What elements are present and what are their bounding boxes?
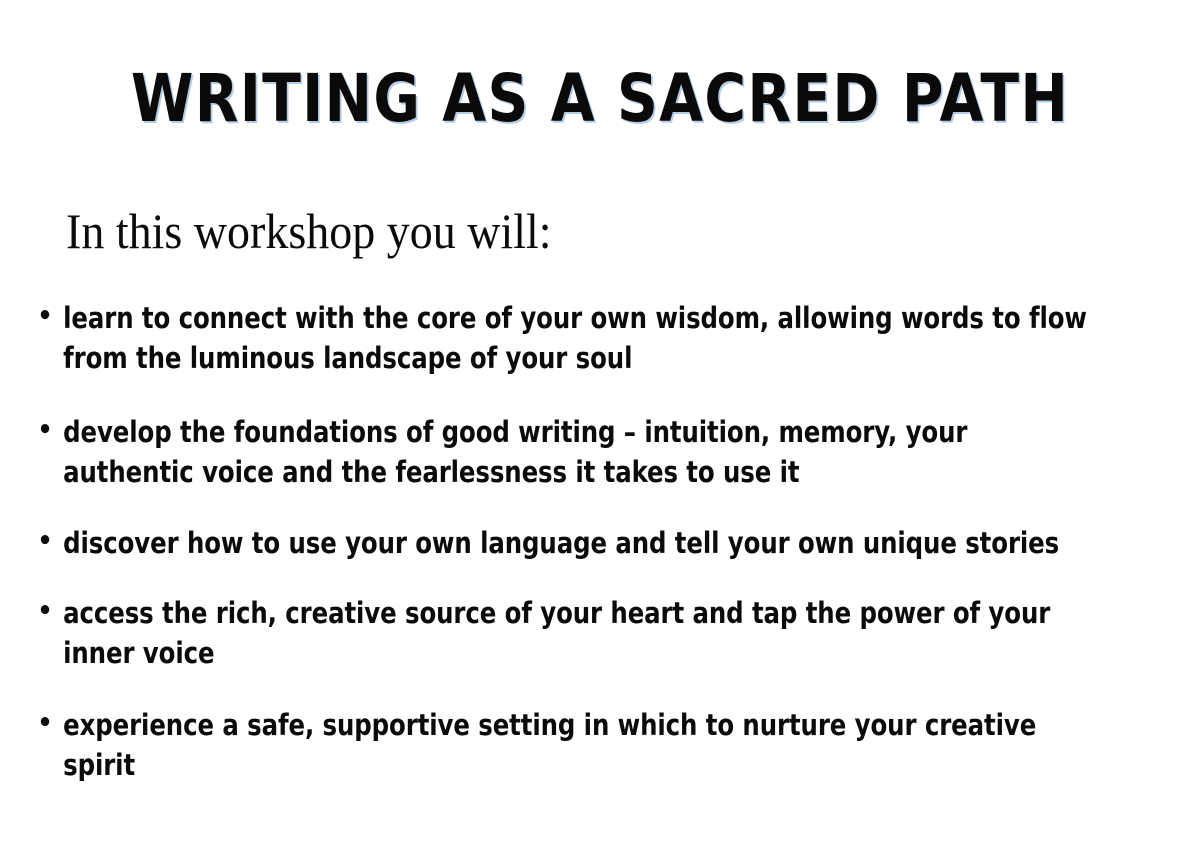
list-item: develop the foundations of good writing …	[30, 412, 1097, 492]
slide-subtitle: In this workshop you will:	[66, 205, 552, 258]
list-item: learn to connect with the core of your o…	[30, 298, 1097, 378]
workshop-outcomes-list: learn to connect with the core of your o…	[30, 298, 1190, 785]
list-item-text: discover how to use your own language an…	[63, 523, 1097, 563]
list-item-text: learn to connect with the core of your o…	[63, 298, 1097, 378]
list-item: experience a safe, supportive setting in…	[30, 705, 1097, 785]
list-item-text: develop the foundations of good writing …	[63, 412, 1097, 492]
page-title: WRITING AS A SACRED PATH	[84, 66, 1116, 132]
presentation-slide: WRITING AS A SACRED PATH In this worksho…	[0, 0, 1200, 853]
list-item-text: access the rich, creative source of your…	[63, 593, 1097, 673]
list-item: discover how to use your own language an…	[30, 523, 1097, 563]
list-item-text: experience a safe, supportive setting in…	[63, 705, 1097, 785]
list-item: access the rich, creative source of your…	[30, 593, 1097, 673]
